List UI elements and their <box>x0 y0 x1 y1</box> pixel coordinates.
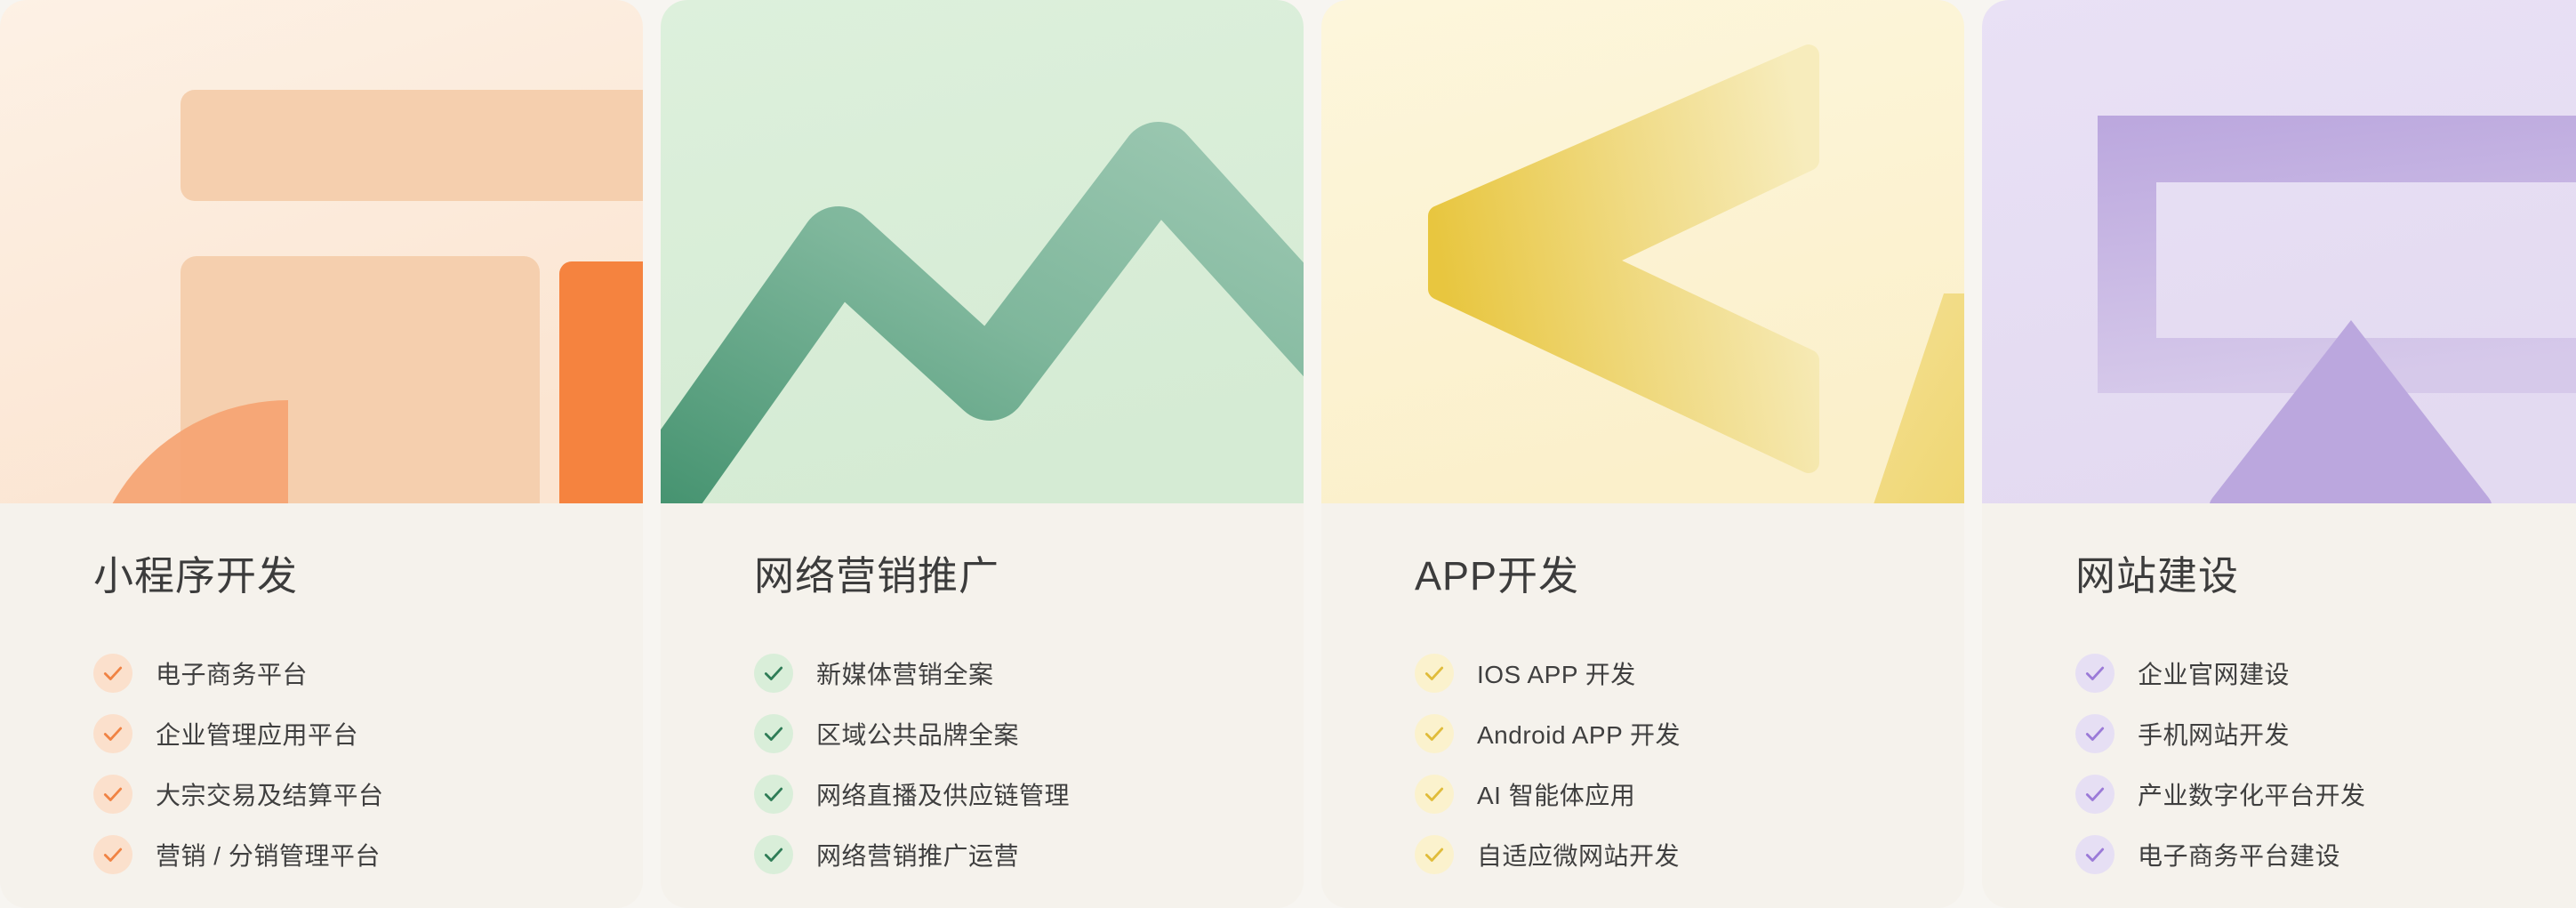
list-item[interactable]: AI 智能体应用 <box>1415 764 1964 824</box>
list-item[interactable]: 企业管理应用平台 <box>93 703 643 764</box>
list-item[interactable]: Android APP 开发 <box>1415 703 1964 764</box>
check-icon <box>2075 835 2115 874</box>
list-item-label: 网络直播及供应链管理 <box>816 776 1070 812</box>
check-icon <box>754 775 793 814</box>
check-icon <box>93 775 132 814</box>
list-item[interactable]: 网络营销推广运营 <box>754 824 1304 885</box>
list-item[interactable]: 营销 / 分销管理平台 <box>93 824 643 885</box>
card-title: APP开发 <box>1415 552 1964 600</box>
list-item-label: 自适应微网站开发 <box>1477 837 1680 872</box>
list-item-label: 营销 / 分销管理平台 <box>156 837 381 872</box>
list-item[interactable]: 网络直播及供应链管理 <box>754 764 1304 824</box>
service-card-app-development[interactable]: APP开发 IOS APP 开发 Android APP 开发 <box>1321 0 1964 908</box>
list-item-label: IOS APP 开发 <box>1477 655 1636 691</box>
list-item-label: Android APP 开发 <box>1477 716 1681 751</box>
list-item[interactable]: 电子商务平台建设 <box>2075 824 2576 885</box>
card-illustration-app-development <box>1321 0 1964 503</box>
card-body: 小程序开发 电子商务平台 企业管理应用平台 <box>0 503 643 885</box>
check-icon <box>93 714 132 753</box>
feature-list: IOS APP 开发 Android APP 开发 AI 智能体应用 <box>1415 643 1964 885</box>
list-item[interactable]: 手机网站开发 <box>2075 703 2576 764</box>
service-card-network-marketing-promotion[interactable]: 网络营销推广 新媒体营销全案 区域公共品牌全案 <box>661 0 1304 908</box>
list-item-label: 企业官网建设 <box>2138 655 2290 691</box>
list-item-label: 区域公共品牌全案 <box>816 716 1019 751</box>
card-title: 小程序开发 <box>93 552 643 600</box>
card-illustration-mini-program <box>0 0 643 503</box>
card-illustration-website-construction <box>1982 0 2576 503</box>
list-item-label: 新媒体营销全案 <box>816 655 994 691</box>
list-item-label: 产业数字化平台开发 <box>2138 776 2366 812</box>
list-item[interactable]: 电子商务平台 <box>93 643 643 703</box>
service-cards-grid: 小程序开发 电子商务平台 企业管理应用平台 <box>0 0 2576 908</box>
card-illustration-network-marketing <box>661 0 1304 503</box>
list-item-label: AI 智能体应用 <box>1477 776 1635 812</box>
check-icon <box>754 654 793 693</box>
feature-list: 企业官网建设 手机网站开发 产业数字化平台开发 <box>2075 643 2576 885</box>
list-item[interactable]: IOS APP 开发 <box>1415 643 1964 703</box>
feature-list: 电子商务平台 企业管理应用平台 大宗交易及结算平台 <box>93 643 643 885</box>
card-body: 网络营销推广 新媒体营销全案 区域公共品牌全案 <box>661 503 1304 885</box>
list-item-label: 电子商务平台 <box>156 655 308 691</box>
list-item-label: 大宗交易及结算平台 <box>156 776 384 812</box>
check-icon <box>2075 654 2115 693</box>
card-body: APP开发 IOS APP 开发 Android APP 开发 <box>1321 503 1964 885</box>
list-item[interactable]: 大宗交易及结算平台 <box>93 764 643 824</box>
check-icon <box>1415 775 1454 814</box>
list-item[interactable]: 区域公共品牌全案 <box>754 703 1304 764</box>
check-icon <box>754 714 793 753</box>
check-icon <box>754 835 793 874</box>
list-item-label: 手机网站开发 <box>2138 716 2290 751</box>
list-item[interactable]: 自适应微网站开发 <box>1415 824 1964 885</box>
list-item[interactable]: 产业数字化平台开发 <box>2075 764 2576 824</box>
check-icon <box>2075 714 2115 753</box>
list-item[interactable]: 新媒体营销全案 <box>754 643 1304 703</box>
check-icon <box>1415 835 1454 874</box>
card-title: 网络营销推广 <box>754 552 1304 600</box>
card-body: 网站建设 企业官网建设 手机网站开发 <box>1982 503 2576 885</box>
service-card-mini-program-development[interactable]: 小程序开发 电子商务平台 企业管理应用平台 <box>0 0 643 908</box>
service-card-website-construction[interactable]: 网站建设 企业官网建设 手机网站开发 <box>1982 0 2576 908</box>
list-item-label: 企业管理应用平台 <box>156 716 358 751</box>
feature-list: 新媒体营销全案 区域公共品牌全案 网络直播及供应链管理 <box>754 643 1304 885</box>
list-item-label: 电子商务平台建设 <box>2138 837 2340 872</box>
check-icon <box>93 654 132 693</box>
check-icon <box>93 835 132 874</box>
check-icon <box>1415 714 1454 753</box>
check-icon <box>2075 775 2115 814</box>
list-item-label: 网络营销推广运营 <box>816 837 1019 872</box>
list-item[interactable]: 企业官网建设 <box>2075 643 2576 703</box>
check-icon <box>1415 654 1454 693</box>
card-title: 网站建设 <box>2075 552 2576 600</box>
